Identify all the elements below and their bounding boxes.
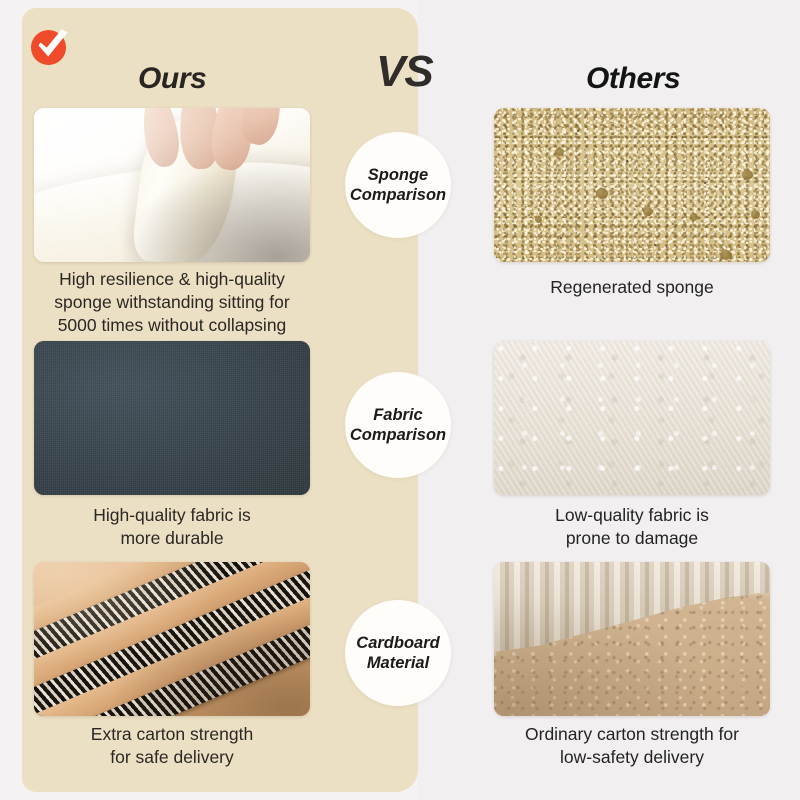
caption-line: High resilience & high-quality: [22, 268, 322, 291]
caption-line: for safe delivery: [22, 746, 322, 769]
caption-line: more durable: [22, 527, 322, 550]
page-title-others: Others: [586, 62, 680, 96]
badge-line: Material: [367, 654, 429, 672]
badge-line: Comparison: [350, 186, 446, 204]
caption-line: 5000 times without collapsing: [22, 314, 322, 337]
ours-caption-sponge: High resilience & high-quality sponge wi…: [22, 268, 322, 337]
comparison-infographic: Ours VS Others: [0, 0, 800, 800]
page-title-ours: Ours: [138, 62, 206, 96]
comparison-badge-cardboard: Cardboard Material: [345, 600, 451, 706]
caption-line: Extra carton strength: [22, 723, 322, 746]
badge-line: Sponge: [368, 166, 429, 184]
ours-image-cardboard: [34, 562, 310, 716]
others-image-cardboard: [494, 562, 770, 716]
badge-line: Cardboard: [356, 634, 439, 652]
badge-line: Fabric: [373, 406, 423, 424]
others-caption-cardboard: Ordinary carton strength for low-safety …: [482, 723, 782, 769]
comparison-badge-sponge: Sponge Comparison: [345, 132, 451, 238]
others-image-fabric: [494, 341, 770, 495]
caption-line: High-quality fabric is: [22, 504, 322, 527]
ours-image-sponge: [34, 108, 310, 262]
ours-caption-cardboard: Extra carton strength for safe delivery: [22, 723, 322, 769]
others-image-sponge: [494, 108, 770, 262]
caption-line: Low-quality fabric is: [482, 504, 782, 527]
badge-line: Comparison: [350, 426, 446, 444]
others-caption-sponge: Regenerated sponge: [482, 276, 782, 299]
ours-caption-fabric: High-quality fabric is more durable: [22, 504, 322, 550]
caption-line: sponge withstanding sitting for: [22, 291, 322, 314]
comparison-badge-fabric: Fabric Comparison: [345, 372, 451, 478]
versus-label: VS: [376, 47, 433, 97]
caption-line: prone to damage: [482, 527, 782, 550]
caption-line: low-safety delivery: [482, 746, 782, 769]
caption-line: Regenerated sponge: [482, 276, 782, 299]
caption-line: Ordinary carton strength for: [482, 723, 782, 746]
others-caption-fabric: Low-quality fabric is prone to damage: [482, 504, 782, 550]
ours-image-fabric: [34, 341, 310, 495]
check-badge-icon: [30, 26, 70, 66]
